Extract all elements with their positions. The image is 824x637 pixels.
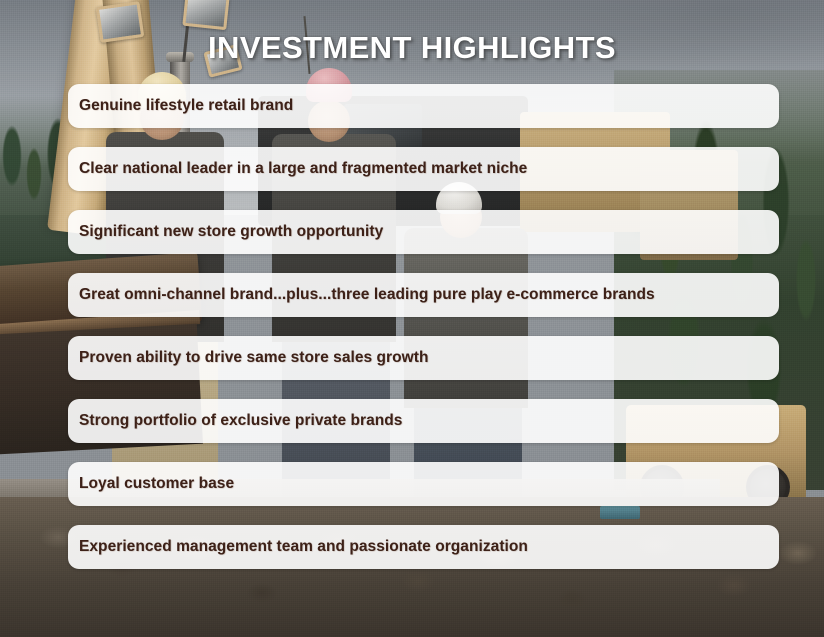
page-title: INVESTMENT HIGHLIGHTS	[0, 30, 824, 66]
list-item-label: Experienced management team and passiona…	[68, 538, 528, 556]
list-item-label: Significant new store growth opportunity	[68, 223, 383, 241]
presentation-slide: INVESTMENT HIGHLIGHTS Genuine lifestyle …	[0, 0, 824, 637]
list-item-label: Genuine lifestyle retail brand	[68, 97, 293, 115]
list-item[interactable]: Strong portfolio of exclusive private br…	[68, 399, 779, 443]
list-item[interactable]: Experienced management team and passiona…	[68, 525, 779, 569]
list-item-label: Great omni-channel brand...plus...three …	[68, 286, 655, 304]
slide-content: INVESTMENT HIGHLIGHTS Genuine lifestyle …	[0, 0, 824, 637]
list-item[interactable]: Clear national leader in a large and fra…	[68, 147, 779, 191]
list-item-label: Loyal customer base	[68, 475, 234, 493]
list-item-label: Clear national leader in a large and fra…	[68, 160, 527, 178]
list-item[interactable]: Loyal customer base	[68, 462, 779, 506]
list-item-label: Proven ability to drive same store sales…	[68, 349, 429, 367]
highlights-list: Genuine lifestyle retail brand Clear nat…	[68, 84, 779, 588]
list-item-label: Strong portfolio of exclusive private br…	[68, 412, 402, 430]
list-item[interactable]: Significant new store growth opportunity	[68, 210, 779, 254]
list-item[interactable]: Genuine lifestyle retail brand	[68, 84, 779, 128]
list-item[interactable]: Great omni-channel brand...plus...three …	[68, 273, 779, 317]
list-item[interactable]: Proven ability to drive same store sales…	[68, 336, 779, 380]
